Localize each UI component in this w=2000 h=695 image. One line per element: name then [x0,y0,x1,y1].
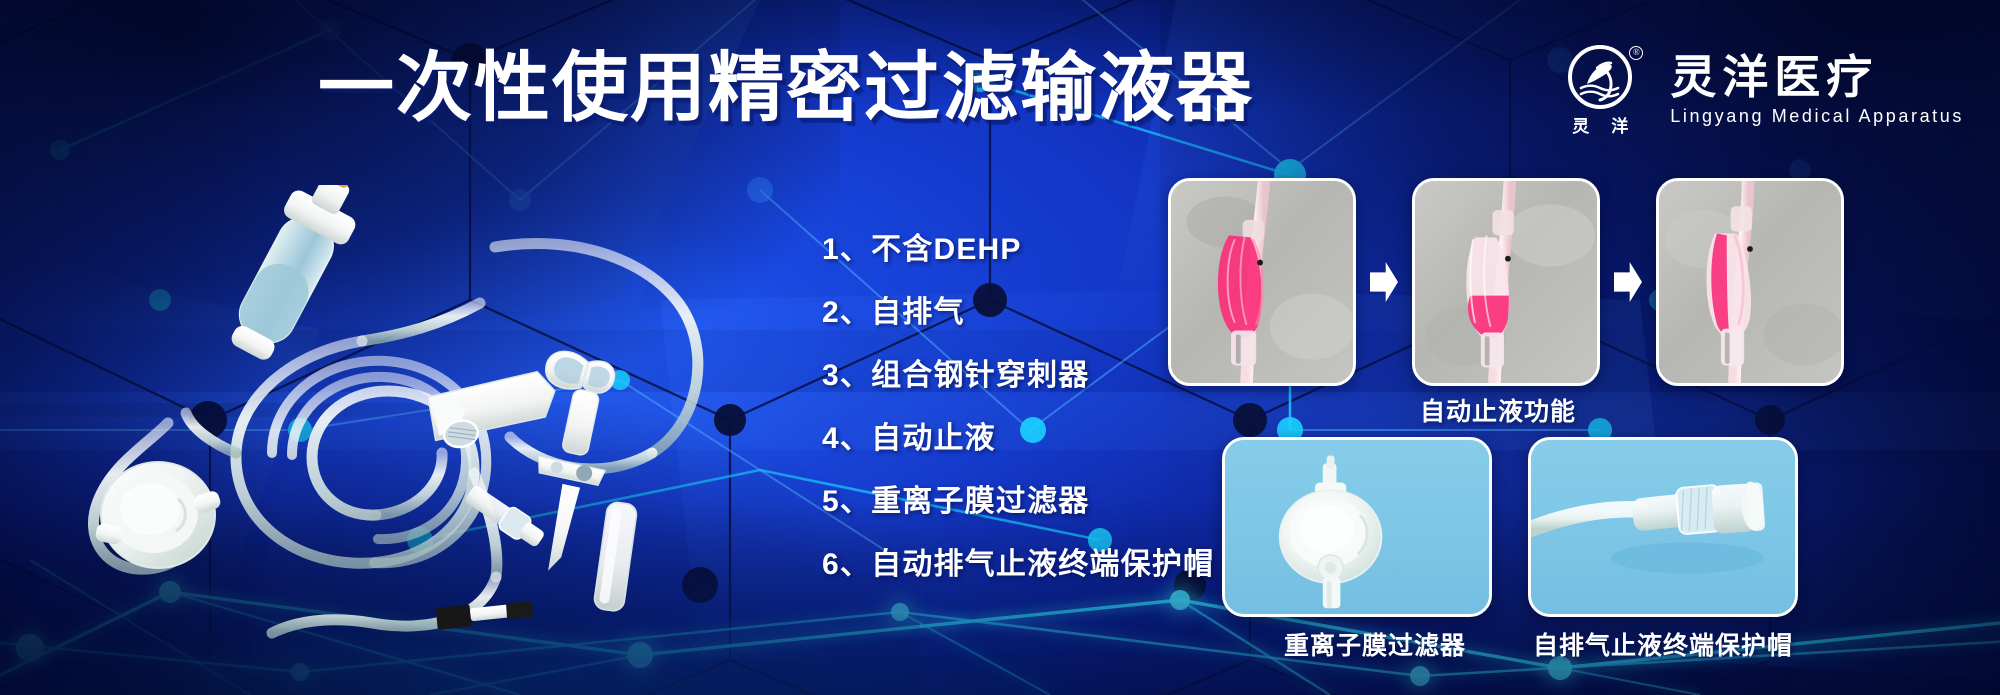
logo-mark-subtext: 灵 洋 [1572,112,1628,137]
feature-item-2: 2、自排气 [822,281,1214,344]
registered-trademark-icon: ® [1629,46,1643,60]
feature-item-3: 3、组合钢针穿刺器 [822,344,1214,407]
caption-protective-cap: 自排气止液终端保护帽 [1528,626,1798,662]
feature-item-5: 5、重离子膜过滤器 [822,470,1214,533]
feature-item-1: 1、不含DEHP [822,218,1214,281]
hero-product-image [40,185,800,645]
sequence-photo-1 [1168,178,1356,386]
logo-char-yang: 洋 [1611,112,1628,137]
banner-root: 一次性使用精密过滤输液器 ® 灵 洋 灵洋医疗 Lingya [0,0,2000,695]
company-name-en: Lingyang Medical Apparatus [1670,106,1964,127]
product-detail-photos [1222,437,1798,617]
auto-stop-caption: 自动止液功能 [1420,392,1576,428]
page-title: 一次性使用精密过滤输液器 [318,48,1254,130]
arrow-right-icon [1614,262,1642,302]
auto-stop-photo-sequence [1168,178,1844,386]
caption-filter: 重离子膜过滤器 [1222,626,1528,662]
sequence-photo-3 [1656,178,1844,386]
feature-list: 1、不含DEHP 2、自排气 3、组合钢针穿刺器 4、自动止液 5、重离子膜过滤… [822,218,1214,596]
company-name-cn: 灵洋医疗 [1670,54,1964,100]
sequence-photo-2 [1412,178,1600,386]
feature-item-4: 4、自动止液 [822,407,1214,470]
brand-logo: ® 灵 洋 灵洋医疗 Lingyang Medical Apparatus [1552,44,1964,136]
feature-item-6: 6、自动排气止液终端保护帽 [822,533,1214,596]
detail-photo-protective-cap [1528,437,1798,617]
detail-photo-captions: 重离子膜过滤器 自排气止液终端保护帽 [1222,626,1798,662]
logo-wordmark: 灵洋医疗 Lingyang Medical Apparatus [1670,54,1964,127]
sequence-arrow-2 [1600,178,1656,386]
logo-mark: ® 灵 洋 [1552,44,1648,136]
lingyang-emblem-icon: ® [1567,44,1633,110]
logo-char-ling: 灵 [1572,112,1589,137]
detail-photo-filter [1222,437,1492,617]
sequence-arrow-1 [1356,178,1412,386]
arrow-right-icon [1370,262,1398,302]
